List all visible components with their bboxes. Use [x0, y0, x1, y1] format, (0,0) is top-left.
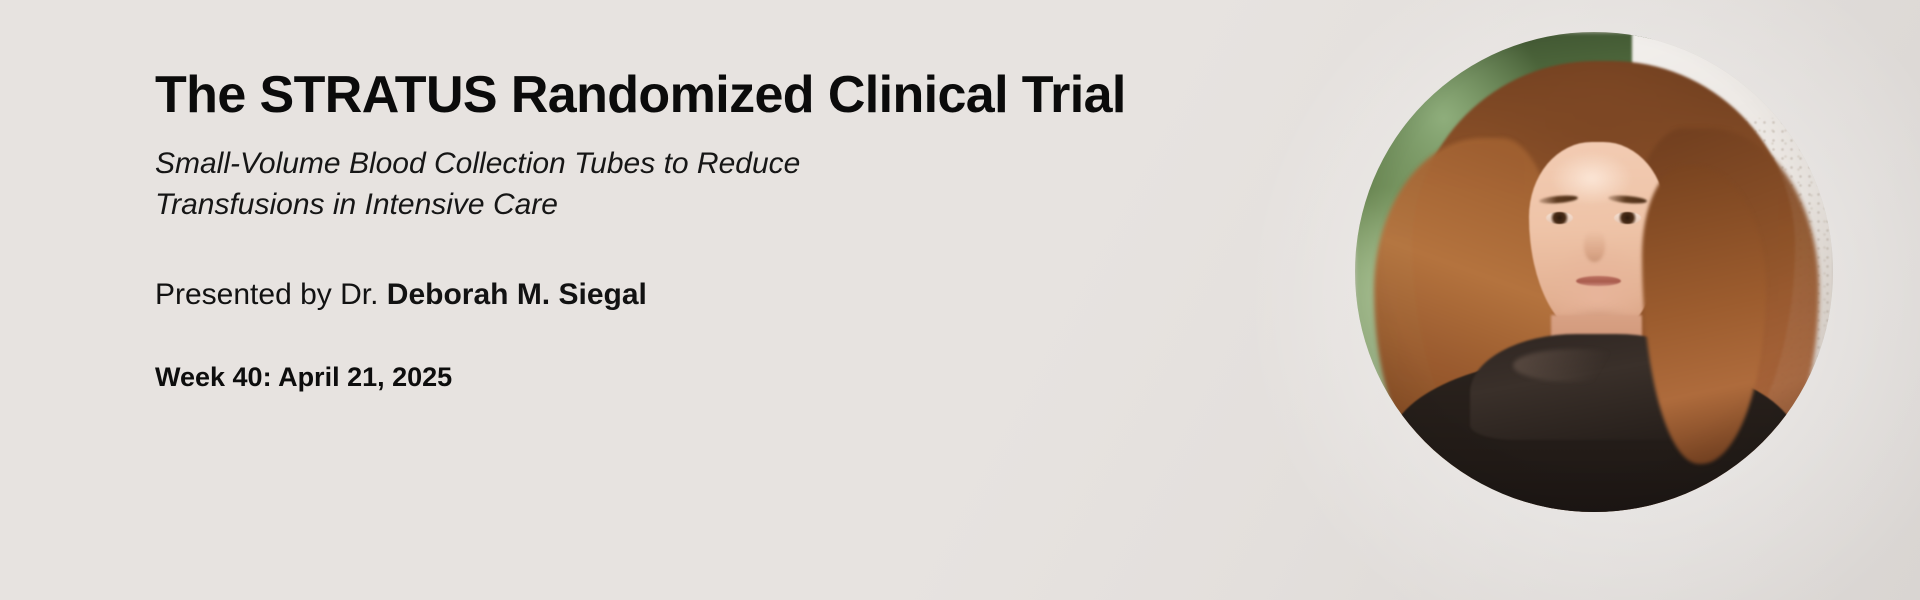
title-slide: The STRATUS Randomized Clinical Trial Sm… [0, 0, 1920, 600]
slide-text-block: The STRATUS Randomized Clinical Trial Sm… [155, 66, 1215, 393]
presenter-portrait [1355, 32, 1833, 512]
page-title: The STRATUS Randomized Clinical Trial [155, 66, 1215, 124]
slide-subtitle: Small-Volume Blood Collection Tubes to R… [155, 144, 955, 226]
presenter-name: Deborah M. Siegal [387, 278, 647, 311]
portrait-photo [1355, 32, 1833, 512]
session-date: Week 40: April 21, 2025 [155, 362, 1215, 393]
presenter-prefix: Presented by Dr. [155, 278, 378, 311]
presenter-line: Presented by Dr. Deborah M. Siegal [155, 278, 1215, 312]
portrait-vignette [1355, 32, 1833, 512]
